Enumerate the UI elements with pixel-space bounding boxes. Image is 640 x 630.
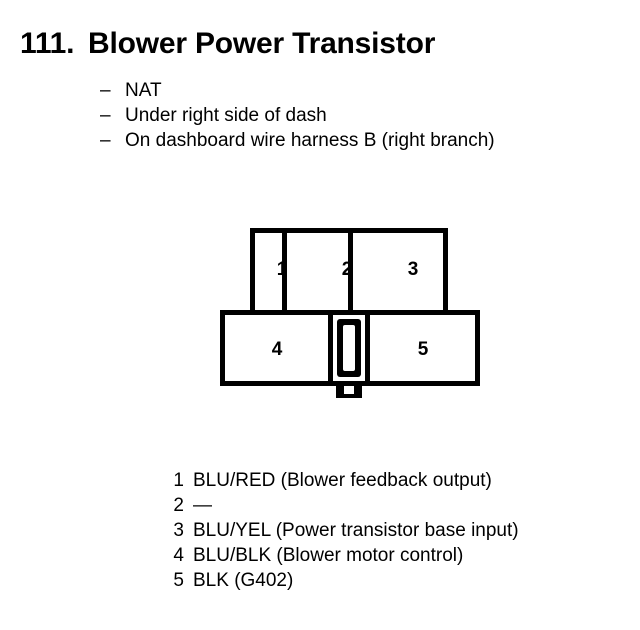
legend-pin-description: BLU/YEL (Power transistor base input) [193, 518, 519, 543]
page-title-text: Blower Power Transistor [88, 27, 435, 60]
pin-legend-list: 1 BLU/RED (Blower feedback output) 2 — 3… [160, 468, 620, 593]
legend-row: 2 — [160, 493, 620, 518]
legend-row: 1 BLU/RED (Blower feedback output) [160, 468, 620, 493]
legend-row: 5 BLK (G402) [160, 568, 620, 593]
bullet-item: – On dashboard wire harness B (right bra… [100, 128, 630, 153]
page-title: 111.Blower Power Transistor [20, 26, 620, 62]
connector-locking-tab [328, 310, 370, 386]
legend-pin-number: 5 [160, 568, 193, 593]
connector-cavity-5-label: 5 [371, 340, 475, 359]
bullet-text: NAT [125, 78, 162, 103]
connector-diagram: 1 2 3 4 5 [218, 228, 482, 408]
bullet-item: – NAT [100, 78, 630, 103]
bullet-item: – Under right side of dash [100, 103, 630, 128]
legend-row: 4 BLU/BLK (Blower motor control) [160, 543, 620, 568]
legend-pin-description: BLK (G402) [193, 568, 293, 593]
bullet-dash-icon: – [100, 103, 125, 128]
connector-cavity-2-label: 2 [315, 260, 379, 279]
legend-pin-number: 2 [160, 493, 193, 518]
legend-row: 3 BLU/YEL (Power transistor base input) [160, 518, 620, 543]
locking-tab-slot [343, 325, 355, 371]
connector-bottom-nub-hole [344, 386, 354, 394]
legend-pin-description: BLU/BLK (Blower motor control) [193, 543, 463, 568]
connector-cavity-3-label: 3 [381, 260, 445, 279]
bullet-text: On dashboard wire harness B (right branc… [125, 128, 495, 153]
header-block: 111.Blower Power Transistor [20, 26, 620, 62]
legend-pin-description: BLU/RED (Blower feedback output) [193, 468, 492, 493]
page-title-number: 111. [20, 26, 88, 62]
connector-cavity-4-label: 4 [225, 340, 329, 359]
bullet-dash-icon: – [100, 128, 125, 153]
legend-pin-number: 4 [160, 543, 193, 568]
bullet-text: Under right side of dash [125, 103, 327, 128]
legend-pin-description: — [193, 493, 212, 518]
attribute-bullet-list: – NAT – Under right side of dash – On da… [100, 78, 630, 153]
legend-pin-number: 3 [160, 518, 193, 543]
bullet-dash-icon: – [100, 78, 125, 103]
connector-cavity-1-label: 1 [250, 260, 314, 279]
legend-pin-number: 1 [160, 468, 193, 493]
